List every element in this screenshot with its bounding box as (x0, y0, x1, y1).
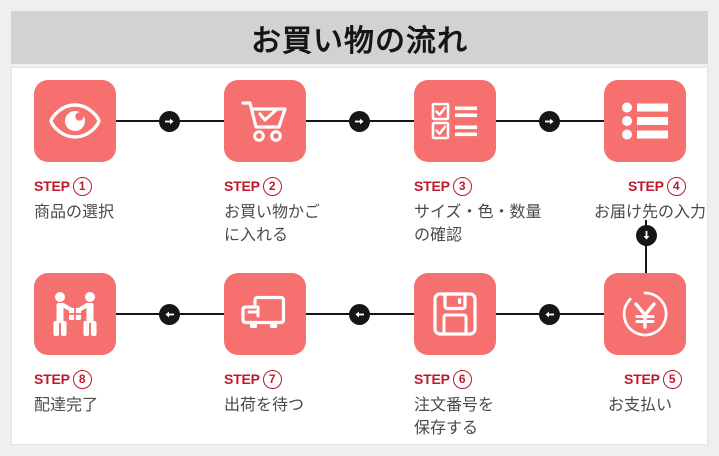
step-number-badge: 8 (73, 370, 92, 389)
page-title: お買い物の流れ (251, 16, 468, 60)
step-4-label: STEP 4 (604, 175, 719, 197)
step-3[interactable]: STEP 3 サイズ・色・数量 の確認 (392, 80, 567, 247)
connector-arrow-6-7 (349, 304, 370, 325)
connector-arrow-5-6 (539, 304, 560, 325)
step-6-icon-tile (414, 273, 496, 355)
package-handover-icon (50, 291, 100, 337)
step-6-label: STEP 6 (414, 368, 567, 390)
delivery-truck-icon (239, 294, 291, 334)
header-bar: お買い物の流れ (11, 11, 708, 64)
step-8-label: STEP 8 (34, 368, 187, 390)
step-1-label: STEP 1 (34, 175, 187, 197)
connector-arrow-2-3 (349, 111, 370, 132)
connector-arrow-7-8 (159, 304, 180, 325)
eye-icon (49, 101, 101, 141)
arrow-left-icon (354, 309, 365, 320)
list-icon (622, 102, 668, 140)
step-8-icon-tile (34, 273, 116, 355)
step-7-text: 出荷を待つ (224, 395, 377, 418)
arrow-right-icon (354, 116, 365, 127)
step-1-text: 商品の選択 (34, 202, 187, 225)
step-word: STEP (628, 178, 664, 194)
step-4-text: お届け先の入力 (594, 202, 719, 225)
step-3-text: サイズ・色・数量 の確認 (414, 202, 567, 247)
arrow-down-icon (641, 230, 652, 241)
flow-diagram-panel: STEP 1 商品の選択 STEP 2 (11, 67, 708, 445)
step-6[interactable]: STEP 6 注文番号を 保存する (392, 273, 567, 440)
arrow-right-icon (164, 116, 175, 127)
yen-circle-icon (621, 290, 669, 338)
step-1[interactable]: STEP 1 商品の選択 (12, 80, 187, 225)
step-8[interactable]: STEP 8 配達完了 (12, 273, 187, 418)
step-3-label: STEP 3 (414, 175, 567, 197)
step-2-label: STEP 2 (224, 175, 377, 197)
step-5-icon-tile (604, 273, 686, 355)
arrow-right-icon (544, 116, 555, 127)
step-word: STEP (414, 371, 450, 387)
step-5-text: お支払い (608, 395, 719, 418)
checklist-icon (431, 102, 479, 140)
step-number-badge: 2 (263, 177, 282, 196)
connector-arrow-3-4 (539, 111, 560, 132)
step-7-icon-tile (224, 273, 306, 355)
step-4[interactable]: STEP 4 お届け先の入力 (582, 80, 719, 225)
step-8-text: 配達完了 (34, 395, 187, 418)
arrow-left-icon (164, 309, 175, 320)
step-word: STEP (414, 178, 450, 194)
shopping-cart-icon (241, 99, 289, 143)
connector-arrow-1-2 (159, 111, 180, 132)
step-2-icon-tile (224, 80, 306, 162)
connector-arrow-4-5 (636, 225, 657, 246)
step-1-icon-tile (34, 80, 116, 162)
step-word: STEP (624, 371, 660, 387)
step-number-badge: 4 (667, 177, 686, 196)
step-3-icon-tile (414, 80, 496, 162)
step-2[interactable]: STEP 2 お買い物かご に入れる (202, 80, 377, 247)
step-4-icon-tile (604, 80, 686, 162)
step-5[interactable]: STEP 5 お支払い (582, 273, 719, 418)
step-number-badge: 1 (73, 177, 92, 196)
step-number-badge: 6 (453, 370, 472, 389)
step-number-badge: 7 (263, 370, 282, 389)
step-5-label: STEP 5 (604, 368, 719, 390)
step-number-badge: 3 (453, 177, 472, 196)
step-word: STEP (34, 178, 70, 194)
step-number-badge: 5 (663, 370, 682, 389)
step-2-text: お買い物かご に入れる (224, 202, 377, 247)
save-floppy-icon (433, 292, 477, 336)
arrow-left-icon (544, 309, 555, 320)
step-word: STEP (224, 178, 260, 194)
step-6-text: 注文番号を 保存する (414, 395, 567, 440)
flow-grid: STEP 1 商品の選択 STEP 2 (12, 68, 707, 444)
step-word: STEP (224, 371, 260, 387)
step-word: STEP (34, 371, 70, 387)
step-7[interactable]: STEP 7 出荷を待つ (202, 273, 377, 418)
shopping-flow-page: お買い物の流れ (0, 0, 719, 456)
step-7-label: STEP 7 (224, 368, 377, 390)
